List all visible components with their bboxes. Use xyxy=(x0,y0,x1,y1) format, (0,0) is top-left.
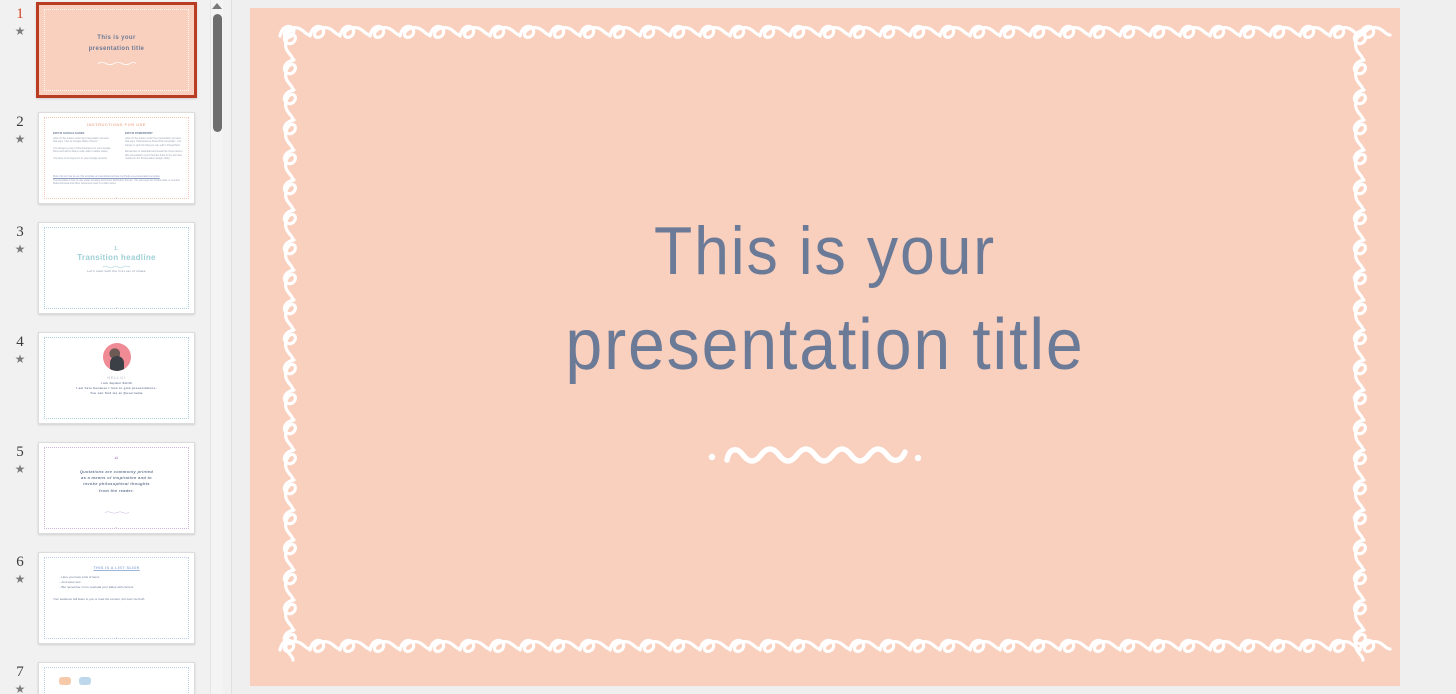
slide-5-quote-body: Quotations are commonly printed as a mea… xyxy=(39,469,194,494)
current-slide[interactable]: This is your presentation title xyxy=(250,8,1400,686)
slide-3-canvas: 1. Transition headline Let's start with … xyxy=(39,223,194,313)
filmstrip-scroll-content: 1 ★ This is your presentation title xyxy=(0,0,212,694)
filmstrip-scrollbar[interactable] xyxy=(210,0,223,694)
slide-1-title: This is your presentation title xyxy=(39,33,194,55)
slide-3-heading: Transition headline xyxy=(39,253,194,262)
slide-3-page-number: 3 xyxy=(39,306,194,310)
star-icon[interactable]: ★ xyxy=(8,462,32,476)
slide-5-quote-line1: Quotations are commonly printed xyxy=(80,469,153,474)
slide-thumbnail-6[interactable]: THIS IS A LIST SLIDE Here you have a lis… xyxy=(38,552,195,644)
slide-2-page-number: 2 xyxy=(39,196,194,200)
slide-5-quote-line4: from the reader. xyxy=(99,488,134,493)
slide-2-left-p1: Click on the button under the presentati… xyxy=(53,137,111,144)
slide-4-heading: HELLO! xyxy=(39,375,194,380)
star-icon[interactable]: ★ xyxy=(8,132,32,146)
slide-3-subtext: Let's start with the first set of slides xyxy=(39,269,194,273)
slide-2-right-p1: Click on the button under the presentati… xyxy=(125,137,183,147)
slide-thumbnail-2[interactable]: INSTRUCTIONS FOR USE EDIT IN GOOGLE SLID… xyxy=(38,112,195,204)
slide-number-1: 1 xyxy=(8,6,32,22)
shape-blue xyxy=(79,677,91,685)
slide-6-heading: THIS IS A LIST SLIDE xyxy=(39,565,194,570)
avatar xyxy=(103,343,131,371)
filmstrip-slide-6[interactable]: 6 ★ THIS IS A LIST SLIDE Here you have a… xyxy=(0,548,212,658)
slide-number-4: 4 xyxy=(8,334,32,350)
slide-thumbnail-5[interactable]: “ Quotations are commonly printed as a m… xyxy=(38,442,195,534)
slide-number-6: 6 xyxy=(8,554,32,570)
slide-1-canvas: This is your presentation title xyxy=(39,5,194,95)
slide-title-line1: This is your xyxy=(296,204,1354,298)
slide-4-meta: 4 ★ xyxy=(8,334,32,366)
slide-7-canvas: 7 xyxy=(39,663,194,694)
slide-7-shapes xyxy=(59,677,91,685)
slide-2-left-column: EDIT IN GOOGLE SLIDES Click on the butto… xyxy=(53,132,111,163)
slide-5-page-number: 5 xyxy=(39,526,194,530)
slide-editor-canvas[interactable]: This is your presentation title xyxy=(232,0,1456,694)
slide-2-heading: INSTRUCTIONS FOR USE xyxy=(39,122,194,127)
slide-1-meta: 1 ★ xyxy=(8,6,32,38)
slide-4-line2: I am here because I love to give present… xyxy=(76,386,156,390)
slide-1-title-line2: presentation title xyxy=(89,46,145,52)
presentation-editor: 1 ★ This is your presentation title xyxy=(0,0,1456,694)
slide-number-5: 5 xyxy=(8,444,32,460)
filmstrip-slide-5[interactable]: 5 ★ “ Quotations are commonly printed as… xyxy=(0,438,212,548)
scrollbar-thumb[interactable] xyxy=(213,14,222,132)
slide-2-right-p2: Remember to download and install the fon… xyxy=(125,150,183,160)
star-icon[interactable]: ★ xyxy=(8,572,32,586)
slide-6-note: Your audience will listen to you or read… xyxy=(53,597,180,602)
slide-2-canvas: INSTRUCTIONS FOR USE EDIT IN GOOGLE SLID… xyxy=(39,113,194,203)
slide-1-wave-icon xyxy=(97,61,137,66)
list-item: But remember not to overload your slides… xyxy=(59,585,133,590)
slide-filmstrip-panel[interactable]: 1 ★ This is your presentation title xyxy=(0,0,232,694)
filmstrip-slide-1[interactable]: 1 ★ This is your presentation title xyxy=(0,0,212,108)
slide-2-left-p2: You will get a copy of this document on … xyxy=(53,147,111,154)
slide-thumbnail-7[interactable]: 7 xyxy=(38,662,195,694)
slide-title-text[interactable]: This is your presentation title xyxy=(296,204,1354,392)
slide-4-canvas: HELLO! I am Jayden Smith I am here becau… xyxy=(39,333,194,423)
slide-thumbnail-1[interactable]: This is your presentation title xyxy=(36,2,197,98)
filmstrip-slide-7[interactable]: 7 ★ 7 xyxy=(0,658,212,694)
title-wave-decoration-icon xyxy=(705,438,945,472)
slide-2-left-subhead: EDIT IN GOOGLE SLIDES xyxy=(53,132,111,135)
slide-5-canvas: “ Quotations are commonly printed as a m… xyxy=(39,443,194,533)
shape-orange xyxy=(59,677,71,685)
slide-2-left-p3: You have to be signed in to your Google … xyxy=(53,157,111,160)
slide-4-line3: You can find me at @username xyxy=(90,391,143,395)
slide-number-7: 7 xyxy=(8,664,32,680)
slide-number-2: 2 xyxy=(8,114,32,130)
slide-5-quote-line2: as a means of inspiration and to xyxy=(81,475,152,480)
slide-3-meta: 3 ★ xyxy=(8,224,32,256)
slide-1-title-line1: This is your xyxy=(97,35,135,41)
slide-5-meta: 5 ★ xyxy=(8,444,32,476)
slide-number-3: 3 xyxy=(8,224,32,240)
slide-4-page-number: 4 xyxy=(39,416,194,420)
slide-thumbnail-4[interactable]: HELLO! I am Jayden Smith I am here becau… xyxy=(38,332,195,424)
slide-5-quote-line3: invoke philosophical thoughts xyxy=(83,481,149,486)
star-icon[interactable]: ★ xyxy=(8,242,32,256)
slide-2-footer-line2: This template is free to use under Creat… xyxy=(53,179,180,186)
slide-3-section-number: 1. xyxy=(39,246,194,252)
slide-4-body: I am Jayden Smith I am here because I lo… xyxy=(39,381,194,396)
slide-2-footer: More info on how to use this template at… xyxy=(53,175,180,186)
slide-6-page-number: 6 xyxy=(39,636,194,640)
slide-title-line2: presentation title xyxy=(296,298,1354,392)
slide-5-quote-mark: “ xyxy=(39,455,194,464)
filmstrip-slide-2[interactable]: 2 ★ INSTRUCTIONS FOR USE EDIT IN GOOGLE … xyxy=(0,108,212,218)
star-icon[interactable]: ★ xyxy=(8,24,32,38)
slide-5-wave-icon xyxy=(104,511,130,514)
slide-2-right-column: EDIT IN POWERPOINT Click on the button u… xyxy=(125,132,183,163)
filmstrip-slide-4[interactable]: 4 ★ HELLO! I am Jayden Smith I am here b… xyxy=(0,328,212,438)
slide-6-list: Here you have a list of items And some t… xyxy=(59,575,133,590)
star-icon[interactable]: ★ xyxy=(8,682,32,694)
filmstrip-slide-3[interactable]: 3 ★ 1. Transition headline Let's start w… xyxy=(0,218,212,328)
scroll-up-arrow-icon[interactable] xyxy=(212,3,222,9)
slide-2-right-subhead: EDIT IN POWERPOINT xyxy=(125,132,183,135)
slide-2-meta: 2 ★ xyxy=(8,114,32,146)
slide-7-meta: 7 ★ xyxy=(8,664,32,694)
slide-6-meta: 6 ★ xyxy=(8,554,32,586)
slide-thumbnail-3[interactable]: 1. Transition headline Let's start with … xyxy=(38,222,195,314)
slide-6-canvas: THIS IS A LIST SLIDE Here you have a lis… xyxy=(39,553,194,643)
slide-4-line1: I am Jayden Smith xyxy=(101,381,132,385)
star-icon[interactable]: ★ xyxy=(8,352,32,366)
